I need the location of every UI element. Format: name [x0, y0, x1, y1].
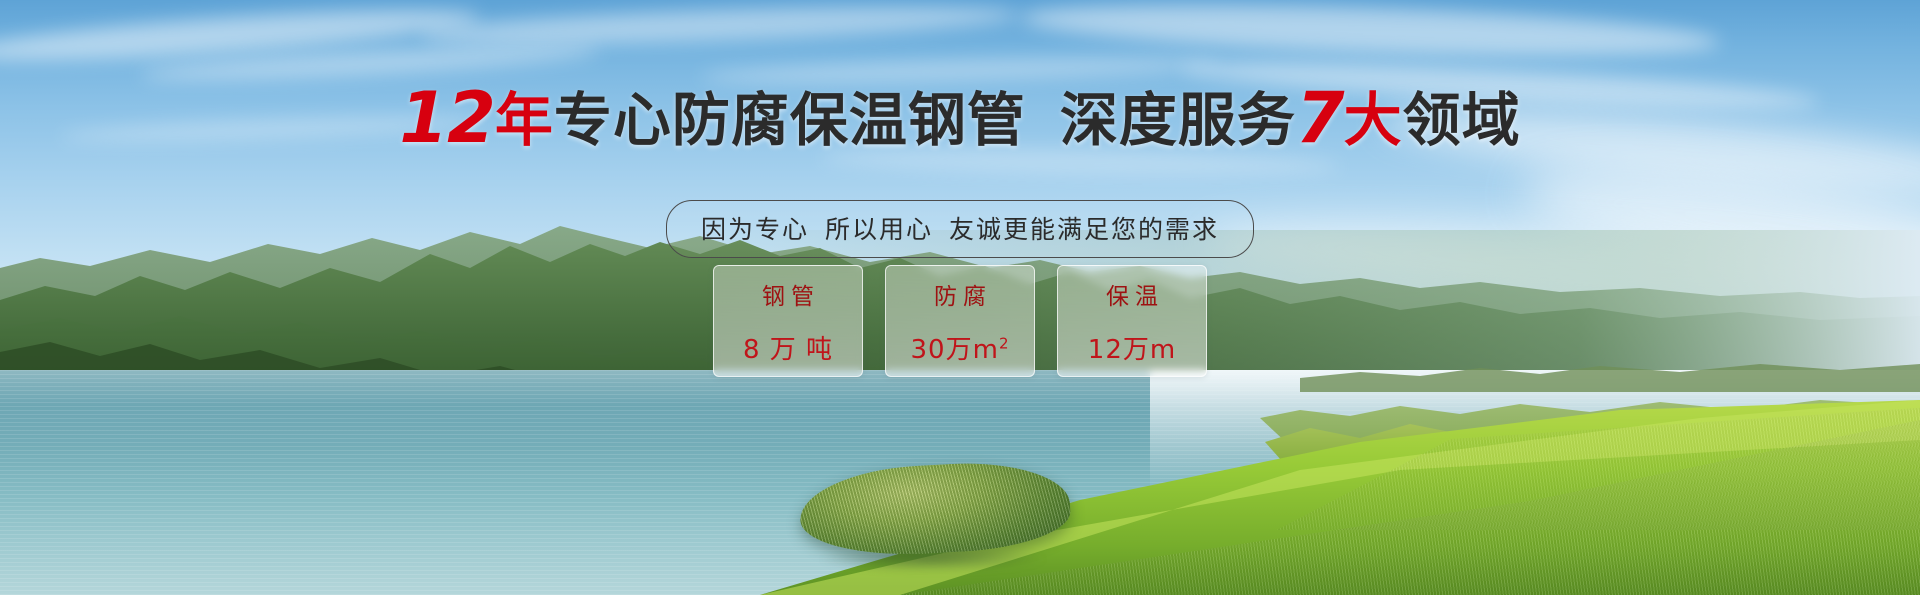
tagline-wrapper: 因为专心所以用心友诚更能满足您的需求: [0, 200, 1920, 258]
headline-fields-number: 7: [1296, 77, 1344, 159]
stat-card-label: 防腐: [928, 277, 992, 311]
stat-card-value: 8 万 吨: [743, 329, 833, 366]
stat-card-label: 钢管: [756, 277, 820, 311]
stat-card-label: 保温: [1100, 277, 1164, 311]
headline-main-text: 专心防腐保温钢管: [554, 86, 1026, 154]
tagline-part-2: 所以用心: [825, 215, 933, 244]
stat-card-value: 12万m: [1088, 329, 1176, 366]
hero-banner: 12年专心防腐保温钢管深度服务7大领域 因为专心所以用心友诚更能满足您的需求 钢…: [0, 0, 1920, 595]
stat-card-value-text: 8 万 吨: [743, 335, 833, 365]
tagline-part-3: 友诚更能满足您的需求: [949, 215, 1219, 244]
stat-card-anticorrosion[interactable]: 防腐 30万m2: [885, 265, 1035, 377]
stat-card-insulation[interactable]: 保温 12万m: [1057, 265, 1207, 377]
tagline-part-1: 因为专心: [701, 215, 809, 244]
headline-service-text: 深度服务: [1060, 86, 1296, 154]
stat-card-list: 钢管 8 万 吨 防腐 30万m2 保温 12万m: [0, 265, 1920, 377]
stat-card-value-text: 30万m: [911, 335, 999, 365]
stat-card-value-text: 12万m: [1088, 335, 1176, 365]
headline-fields-text: 领域: [1403, 86, 1521, 154]
stat-card-steel-pipe[interactable]: 钢管 8 万 吨: [713, 265, 863, 377]
tagline-pill: 因为专心所以用心友诚更能满足您的需求: [666, 200, 1254, 258]
headline-years-unit: 年: [495, 86, 554, 154]
headline-fields-unit: 大: [1344, 86, 1403, 154]
banner-content: 12年专心防腐保温钢管深度服务7大领域 因为专心所以用心友诚更能满足您的需求 钢…: [0, 0, 1920, 595]
stat-card-value-superscript: 2: [999, 334, 1010, 352]
headline: 12年专心防腐保温钢管深度服务7大领域: [0, 82, 1920, 156]
headline-years-number: 12: [399, 77, 494, 159]
stat-card-value: 30万m2: [911, 329, 1010, 366]
